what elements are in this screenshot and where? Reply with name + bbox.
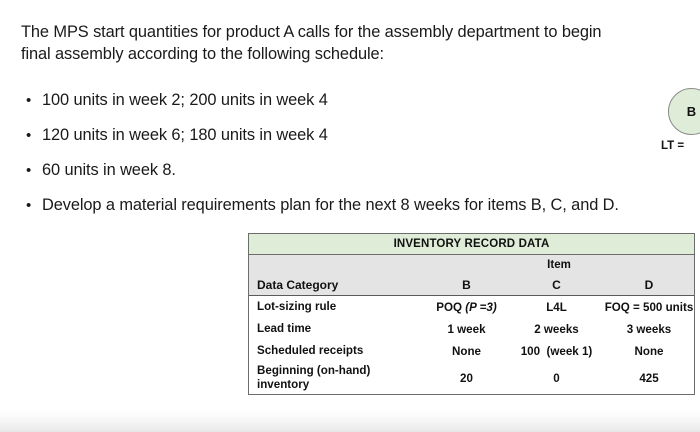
list-item-text: 120 units in week 6; 180 units in week 4 [42,125,639,146]
column-header-d: D [604,278,694,292]
slide-page: The MPS start quantities for product A c… [0,0,700,432]
table-group-header-item: Item [424,259,694,271]
cell-b: 20 [424,372,509,385]
bottom-divider [0,408,700,432]
page-title: The MPS start quantities for product A c… [21,22,621,65]
cell-c: L4L [509,301,604,314]
table-group-header-row: Item [249,255,694,274]
list-item: • 120 units in week 6; 180 units in week… [21,125,639,146]
column-header-c: C [509,278,604,292]
table-row: Lot-sizing rule POQ (P =3) L4L FOQ = 500… [249,296,694,318]
list-item-text: 100 units in week 2; 200 units in week 4 [42,90,639,111]
bullet-dot-icon: • [26,160,31,181]
inventory-record-table: INVENTORY RECORD DATA Item Data Category… [248,233,695,395]
cell-b: None [424,345,509,358]
list-item: • 60 units in week 8. [21,160,639,181]
bullet-list: • 100 units in week 2; 200 units in week… [21,90,639,216]
column-header-data-category: Data Category [249,278,424,292]
bullet-dot-icon: • [26,195,31,216]
cell-c: 100 (week 1) [509,345,604,358]
bullet-dot-icon: • [26,125,31,146]
list-item: • 100 units in week 2; 200 units in week… [21,90,639,111]
bom-node-b: B LT = [668,88,700,168]
row-label: Beginning (on-hand) inventory [249,364,424,392]
table-column-header-row: Data Category B C D [249,274,694,295]
list-item-text: 60 units in week 8. [42,160,639,181]
cell-b: 1 week [424,323,509,336]
row-label: Lead time [249,322,424,336]
list-item-text: Develop a material requirements plan for… [42,195,639,216]
column-header-b: B [424,278,509,292]
table-row: Lead time 1 week 2 weeks 3 weeks [249,318,694,340]
table-row: Scheduled receipts None 100 (week 1) Non… [249,340,694,362]
cell-d: 425 [604,372,694,385]
table-title: INVENTORY RECORD DATA [249,234,694,255]
cell-b-param: (P =3) [465,301,496,314]
bom-node-label: B [668,88,700,135]
cell-d: FOQ = 500 units [604,301,694,314]
table-header: Item Data Category B C D [249,255,694,296]
cell-d: None [604,345,694,358]
cell-b-main: POQ [436,301,465,314]
list-item: • Develop a material requirements plan f… [21,195,639,216]
cell-b: POQ (P =3) [424,301,509,314]
bom-node-lead-time-label: LT = [661,140,684,152]
bullet-dot-icon: • [26,90,31,111]
cell-c: 0 [509,372,604,385]
row-label: Scheduled receipts [249,344,424,358]
cell-d: 3 weeks [604,323,694,336]
table-row: Beginning (on-hand) inventory 20 0 425 [249,362,694,394]
row-label: Lot-sizing rule [249,300,424,314]
cell-c: 2 weeks [509,323,604,336]
